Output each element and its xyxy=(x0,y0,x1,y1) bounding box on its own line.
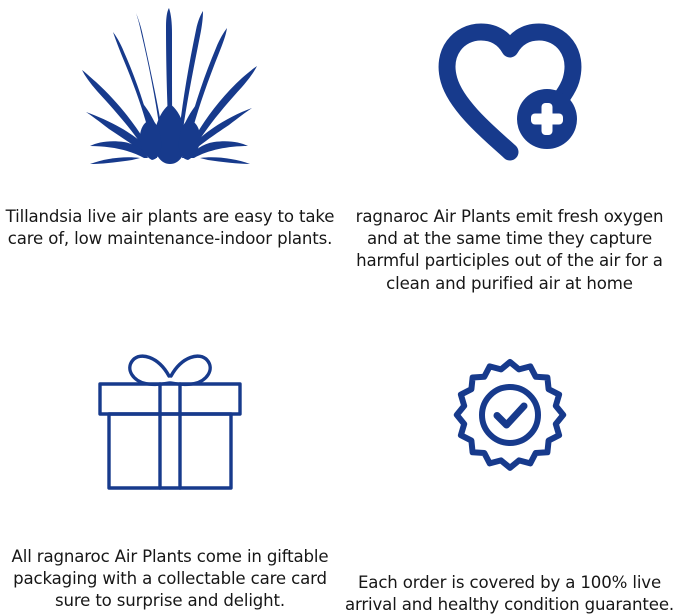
gift-box-icon xyxy=(0,308,340,492)
air-plant-icon xyxy=(0,0,340,164)
feature-card-giftable-packaging: All ragnaroc Air Plants come in giftable… xyxy=(0,308,340,616)
feature-card-fresh-oxygen: ragnaroc Air Plants emit fresh oxygen an… xyxy=(340,0,679,308)
feature-card-live-arrival-guarantee: Each order is covered by a 100% live arr… xyxy=(340,308,679,616)
feature-caption: Tillandsia live air plants are easy to t… xyxy=(0,206,340,250)
feature-caption: All ragnaroc Air Plants come in giftable… xyxy=(0,546,340,613)
feature-caption: ragnaroc Air Plants emit fresh oxygen an… xyxy=(340,206,679,295)
feature-grid: Tillandsia live air plants are easy to t… xyxy=(0,0,679,616)
feature-card-easy-care: Tillandsia live air plants are easy to t… xyxy=(0,0,340,308)
feature-caption: Each order is covered by a 100% live arr… xyxy=(340,572,679,616)
verified-badge-check-icon xyxy=(340,308,679,496)
heart-plus-icon xyxy=(340,0,679,164)
